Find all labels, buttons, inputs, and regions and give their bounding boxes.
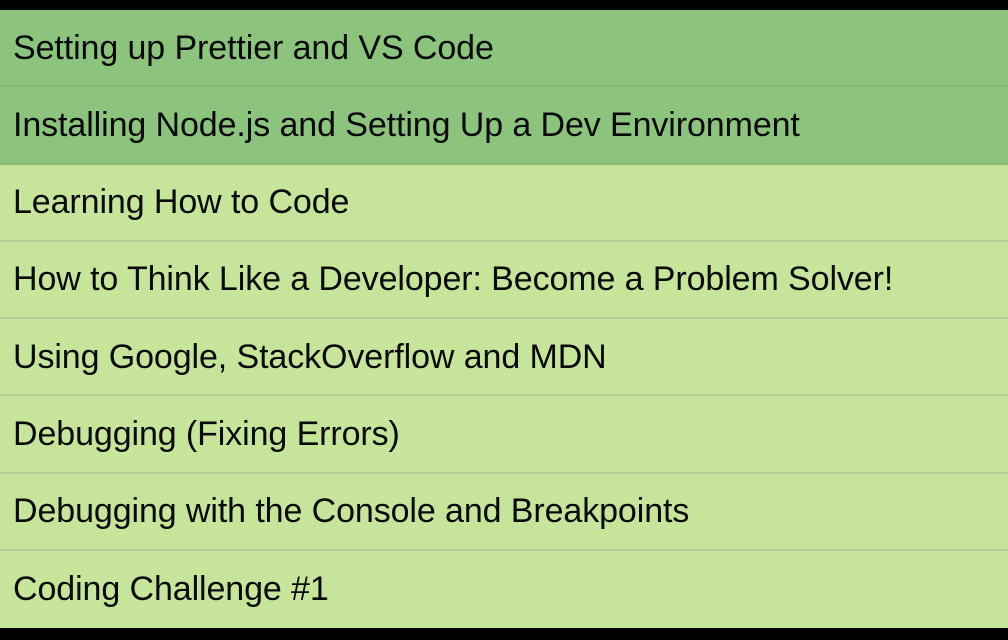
list-item[interactable]: Setting up Prettier and VS Code: [0, 10, 1008, 87]
list-item[interactable]: Debugging with the Console and Breakpoin…: [0, 474, 1008, 551]
list-item[interactable]: Debugging (Fixing Errors): [0, 396, 1008, 473]
list-item[interactable]: Learning How to Code: [0, 165, 1008, 242]
list-item[interactable]: Coding Challenge #1: [0, 551, 1008, 628]
lesson-title: How to Think Like a Developer: Become a …: [13, 259, 893, 299]
lesson-title: Debugging with the Console and Breakpoin…: [13, 491, 689, 531]
lesson-title: Setting up Prettier and VS Code: [13, 28, 494, 68]
list-item[interactable]: How to Think Like a Developer: Become a …: [0, 242, 1008, 319]
screen: Setting up Prettier and VS Code Installi…: [0, 0, 1008, 640]
list-item[interactable]: Using Google, StackOverflow and MDN: [0, 319, 1008, 396]
letterbox-top: [0, 0, 1008, 10]
lesson-title: Debugging (Fixing Errors): [13, 414, 400, 454]
lesson-list: Setting up Prettier and VS Code Installi…: [0, 10, 1008, 628]
lesson-title: Installing Node.js and Setting Up a Dev …: [13, 105, 800, 145]
lesson-title: Coding Challenge #1: [13, 569, 329, 609]
lesson-title: Learning How to Code: [13, 182, 349, 222]
letterbox-bottom: [0, 628, 1008, 640]
list-item[interactable]: Installing Node.js and Setting Up a Dev …: [0, 87, 1008, 164]
lesson-title: Using Google, StackOverflow and MDN: [13, 337, 607, 377]
